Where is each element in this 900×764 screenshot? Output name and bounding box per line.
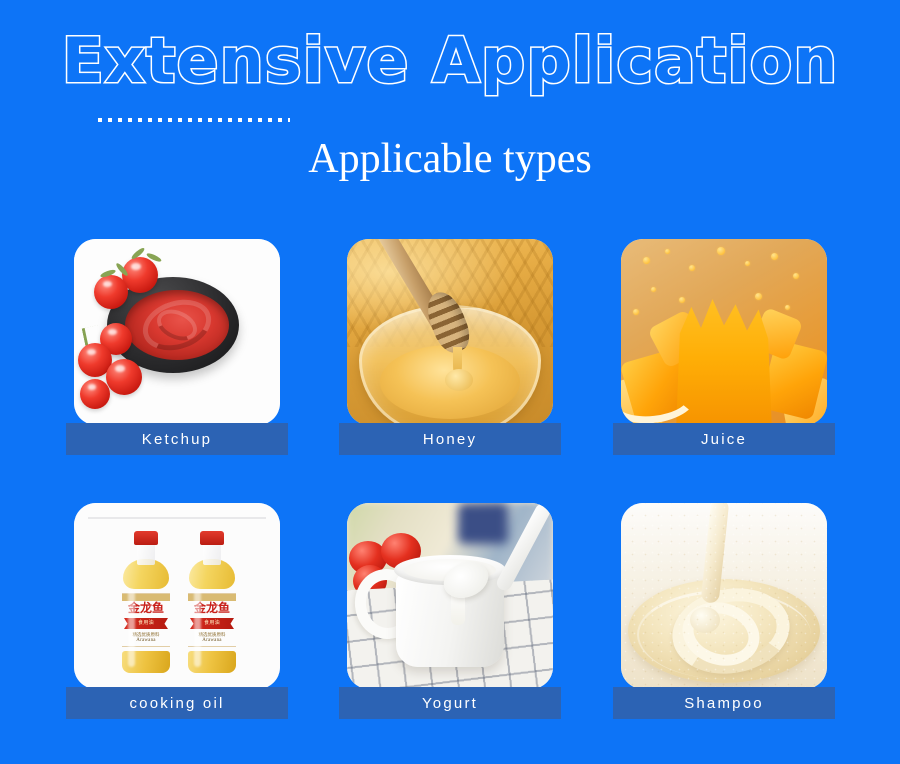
juice-droplet bbox=[755, 293, 762, 300]
card-label-bar: Honey bbox=[339, 423, 561, 455]
card-label-bar: Yogurt bbox=[339, 687, 561, 719]
card-label: Yogurt bbox=[422, 695, 478, 712]
cooking-oil-photo: 金龙鱼 食用油 精选优质原料 Arawana bbox=[74, 503, 280, 689]
honey-photo bbox=[347, 239, 553, 425]
thumbnail-ketchup bbox=[74, 239, 280, 425]
card-label: Juice bbox=[701, 431, 747, 448]
card-label-bar: Shampoo bbox=[613, 687, 835, 719]
ketchup-sauce bbox=[125, 290, 229, 360]
oil-bottle: 金龙鱼 食用油 精选优质原料 Arawana bbox=[120, 531, 172, 673]
juice-droplet bbox=[793, 273, 799, 279]
juice-droplet bbox=[665, 249, 670, 254]
ketchup-photo bbox=[74, 239, 280, 425]
juice-droplet bbox=[633, 309, 639, 315]
bottle-highlight bbox=[128, 589, 135, 667]
bottle-neck bbox=[203, 543, 221, 565]
card-label: Shampoo bbox=[684, 695, 764, 712]
shelf-line bbox=[88, 517, 266, 519]
tomato-icon bbox=[106, 359, 142, 395]
bottle-cap bbox=[134, 531, 158, 545]
juice-droplet bbox=[771, 253, 778, 260]
honey-drip-blob bbox=[445, 369, 473, 391]
yogurt-photo bbox=[347, 503, 553, 689]
juice-photo bbox=[621, 239, 827, 425]
thumbnail-cooking-oil: 金龙鱼 食用油 精选优质原料 Arawana bbox=[74, 503, 280, 689]
applicable-types-grid: Ketchup Honey bbox=[0, 0, 900, 764]
thumbnail-shampoo bbox=[621, 503, 827, 689]
thumbnail-yogurt bbox=[347, 503, 553, 689]
poster-root: Extensive Application Applicable types bbox=[0, 0, 900, 764]
background-object bbox=[458, 503, 507, 544]
card-label: cooking oil bbox=[129, 695, 224, 712]
juice-droplet bbox=[745, 261, 750, 266]
thumbnail-honey bbox=[347, 239, 553, 425]
juice-droplet bbox=[785, 305, 790, 310]
shampoo-photo bbox=[621, 503, 827, 689]
juice-droplet bbox=[717, 247, 725, 255]
card-label-bar: Ketchup bbox=[66, 423, 288, 455]
tomato-icon bbox=[80, 379, 110, 409]
card-label-bar: Juice bbox=[613, 423, 835, 455]
juice-droplet bbox=[689, 265, 695, 271]
juice-droplet bbox=[643, 257, 650, 264]
bottle-neck bbox=[137, 543, 155, 565]
oil-bottle: 金龙鱼 食用油 精选优质原料 Arawana bbox=[186, 531, 238, 673]
bottle-cap bbox=[200, 531, 224, 545]
card-label: Honey bbox=[423, 431, 477, 448]
tomato-icon bbox=[94, 275, 128, 309]
card-label: Ketchup bbox=[142, 431, 212, 448]
juice-droplet bbox=[679, 297, 685, 303]
juice-droplet bbox=[651, 287, 656, 292]
thumbnail-juice bbox=[621, 239, 827, 425]
texture-overlay bbox=[621, 503, 827, 689]
bottle-highlight bbox=[194, 589, 201, 667]
card-label-bar: cooking oil bbox=[66, 687, 288, 719]
